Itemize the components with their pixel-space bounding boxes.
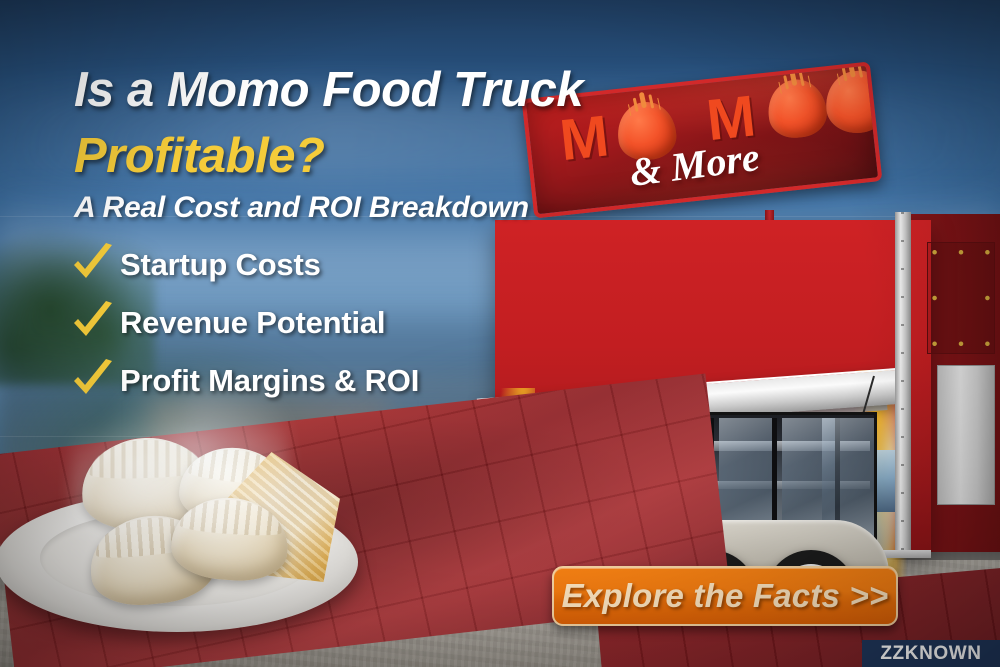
page-subtitle: A Real Cost and ROI Breakdown bbox=[74, 191, 694, 225]
check-icon bbox=[70, 359, 116, 403]
list-item-label: Startup Costs bbox=[120, 247, 321, 283]
momo-plate-group bbox=[0, 400, 390, 640]
watermark-label: ZZKNOWN bbox=[880, 643, 981, 665]
list-item: Startup Costs bbox=[70, 240, 500, 290]
rear-access-panel bbox=[927, 242, 995, 354]
trailer-corner-post bbox=[895, 212, 911, 556]
benefits-checklist: Startup Costs Revenue Potential Profit M… bbox=[70, 240, 500, 414]
cta-button-label: Explore the Facts >> bbox=[562, 577, 889, 615]
list-item-label: Profit Margins & ROI bbox=[120, 363, 419, 399]
momo-dumpling-icon bbox=[823, 68, 883, 136]
rear-steel-door bbox=[937, 365, 995, 505]
momo-dumpling-icon bbox=[765, 77, 829, 141]
check-icon bbox=[70, 243, 116, 287]
page-title: Is a Momo Food Truck bbox=[74, 65, 694, 117]
list-item-label: Revenue Potential bbox=[120, 305, 385, 341]
check-icon bbox=[70, 301, 116, 345]
page-title-accent: Profitable? bbox=[74, 131, 694, 183]
list-item: Revenue Potential bbox=[70, 298, 500, 348]
promo-banner: M M & More bbox=[0, 0, 1000, 667]
explore-the-facts-button[interactable]: Explore the Facts >> bbox=[552, 566, 898, 626]
watermark-badge: ZZKNOWN bbox=[862, 640, 1000, 667]
list-item: Profit Margins & ROI bbox=[70, 356, 500, 406]
